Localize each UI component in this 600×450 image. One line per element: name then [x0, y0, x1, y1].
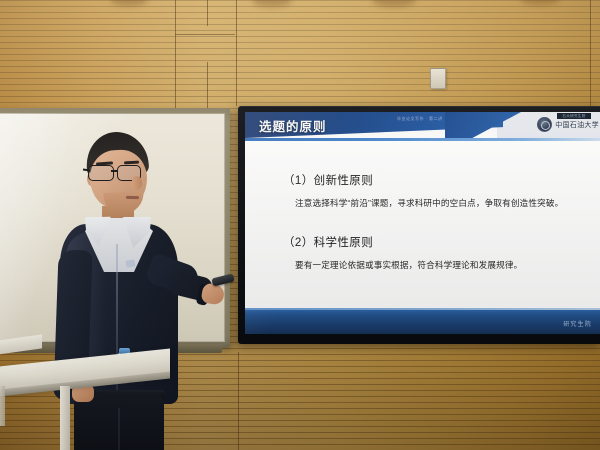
slide-bullet-heading: （2）科学性原则: [283, 234, 522, 250]
wall-panel-seam: [175, 34, 235, 35]
wall-panel-seam: [238, 352, 239, 450]
wall-panel-seam: [207, 62, 208, 108]
slide-footer-accent-line: [245, 308, 600, 310]
presenter-mouth: [126, 196, 139, 199]
glasses-bridge: [111, 170, 118, 172]
logo-tag-label: 石大研究生院: [557, 113, 591, 119]
presenter: [52, 132, 202, 450]
glasses-temple: [83, 169, 90, 172]
slide-body: （1）创新性原则 注意选择科学“前沿”课题，寻求科研中的空白点，争取有创造性突破…: [245, 141, 600, 308]
wall-switch-plate[interactable]: [430, 68, 446, 89]
display-screen[interactable]: 选题的原则 毕业论文写作 · 第二讲 中国石油大学 石大研究生院 （1）创新性原…: [245, 112, 600, 334]
slide-bullet-detail: 注意选择科学“前沿”课题，寻求科研中的空白点，争取有创造性突破。: [295, 197, 563, 209]
slide-bullet-detail: 要有一定理论依据或事实根据，符合科学理论和发展规律。: [295, 259, 522, 271]
slide-header-microtext: 毕业论文写作 · 第二讲: [397, 116, 453, 122]
slide-title: 选题的原则: [259, 116, 327, 135]
wall-panel-seam: [207, 0, 208, 26]
front-table-leg: [0, 386, 5, 426]
slide-header: 选题的原则 毕业论文写作 · 第二讲 中国石油大学 石大研究生院: [245, 112, 600, 138]
presentation-slide: 选题的原则 毕业论文写作 · 第二讲 中国石油大学 石大研究生院 （1）创新性原…: [245, 112, 600, 334]
slide-footer-mark: 研究生院: [563, 319, 592, 328]
university-name: 中国石油大学: [555, 120, 599, 130]
front-table-leg: [60, 386, 70, 450]
wall-panel-seam: [590, 0, 591, 112]
classroom-photo: 选题的原则 毕业论文写作 · 第二讲 中国石油大学 石大研究生院 （1）创新性原…: [0, 0, 600, 450]
slide-bullet: （1）创新性原则 注意选择科学“前沿”课题，寻求科研中的空白点，争取有创造性突破…: [283, 172, 563, 209]
university-logo: 中国石油大学 石大研究生院: [537, 117, 599, 132]
wall-panel-seam: [236, 0, 237, 106]
slide-bullet-heading: （1）创新性原则: [283, 172, 563, 188]
glasses-lens: [88, 165, 114, 181]
university-seal-icon: [537, 117, 552, 132]
slide-bullet: （2）科学性原则 要有一定理论依据或事实根据，符合科学理论和发展规律。: [283, 234, 522, 271]
slide-footer: 研究生院: [245, 308, 600, 334]
display-brand-label: [399, 334, 461, 341]
presenter-trousers-seam: [118, 408, 120, 450]
wall-panel-seam: [175, 0, 176, 108]
presenter-chest-logo: [126, 259, 136, 267]
